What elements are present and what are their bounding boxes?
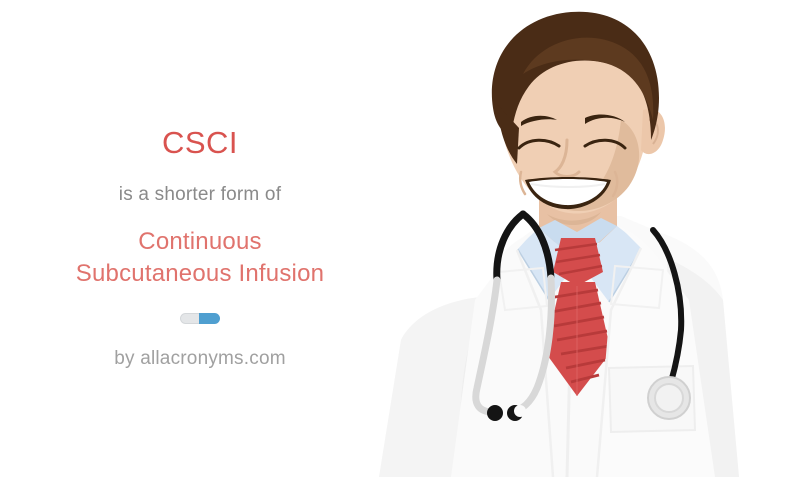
expansion-text: Continuous Subcutaneous Infusion [76, 226, 324, 291]
page-root: CSCI is a shorter form of Continuous Sub… [0, 0, 801, 477]
stethoscope-chestpiece-inner [655, 384, 683, 412]
shorter-form-label: is a shorter form of [119, 184, 281, 206]
pill-capsule-icon [180, 313, 220, 324]
expansion-line-2: Subcutaneous Infusion [76, 260, 324, 287]
stethoscope-eartip-notch [514, 405, 526, 417]
doctor-illustration-svg [371, 0, 801, 477]
stethoscope-eartip-left [487, 405, 503, 421]
doctor-illustration [371, 0, 801, 477]
expansion-line-1: Continuous [138, 228, 261, 255]
attribution-text: by allacronyms.com [114, 348, 285, 370]
pill-left-half [180, 313, 201, 324]
pill-right-half [199, 313, 220, 324]
head [492, 12, 665, 225]
acronym-title: CSCI [162, 126, 238, 160]
acronym-text-panel: CSCI is a shorter form of Continuous Sub… [0, 0, 400, 477]
